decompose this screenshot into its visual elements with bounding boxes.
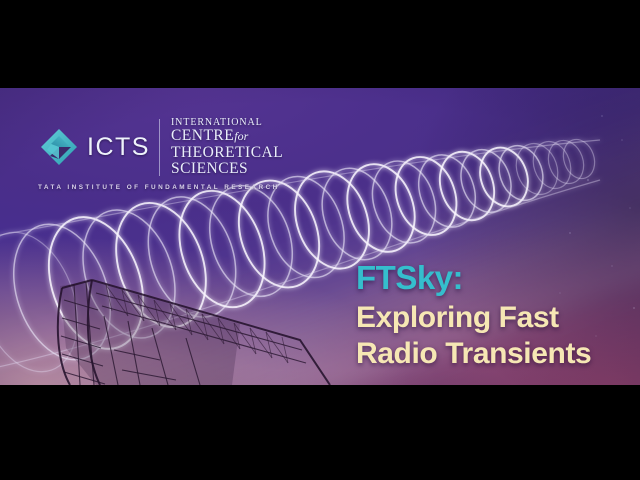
icts-diamond-cube-logo-icon	[38, 126, 80, 168]
logo-line-centre: CENTREfor	[171, 128, 283, 144]
icts-logo-row: ICTS INTERNATIONAL CENTREfor THEORETICAL…	[38, 118, 283, 177]
letterbox-top	[0, 0, 640, 88]
title-block: FTSky: Exploring Fast Radio Transients	[356, 260, 626, 370]
icts-tagline: TATA INSTITUTE OF FUNDAMENTAL RESEARCH	[38, 184, 283, 191]
letterbox-bottom	[0, 385, 640, 480]
icts-full-name: INTERNATIONAL CENTREfor THEORETICAL SCIE…	[171, 118, 283, 177]
video-frame: ICTS INTERNATIONAL CENTREfor THEORETICAL…	[0, 88, 640, 385]
telescope-structure	[58, 280, 330, 385]
logo-line-theoretical: THEORETICAL	[171, 145, 283, 161]
title-line-3: Radio Transients	[356, 337, 626, 370]
logo-divider	[159, 119, 160, 176]
icts-logo: ICTS INTERNATIONAL CENTREfor THEORETICAL…	[38, 118, 283, 191]
logo-centre-text: CENTRE	[171, 127, 234, 144]
title-line-1: FTSky:	[356, 260, 626, 296]
title-line-2: Exploring Fast	[356, 301, 626, 334]
video-title-card: ICTS INTERNATIONAL CENTREfor THEORETICAL…	[0, 0, 640, 480]
logo-centre-for: for	[234, 129, 248, 143]
icts-wordmark: ICTS	[87, 135, 150, 160]
logo-line-sciences: SCIENCES	[171, 161, 283, 177]
